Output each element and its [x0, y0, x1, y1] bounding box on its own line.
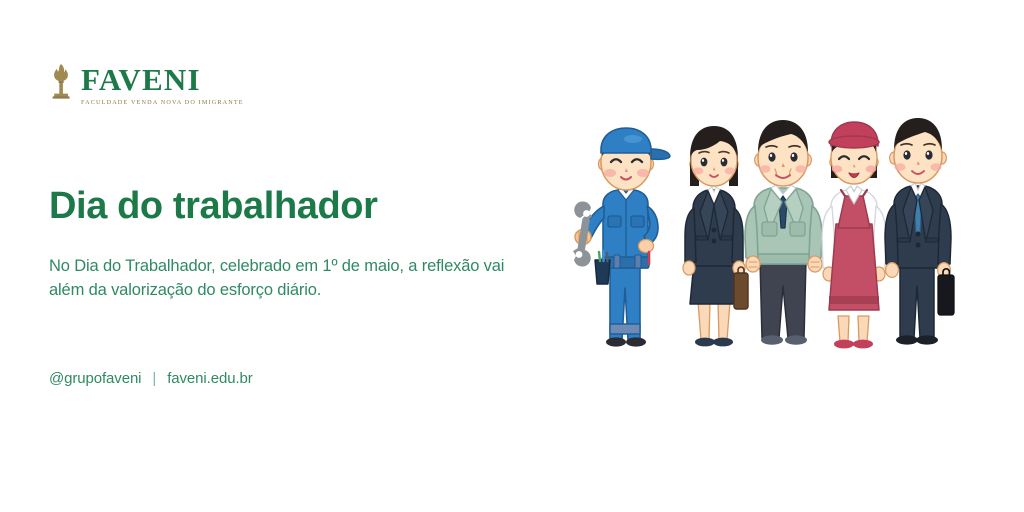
figure-businesswoman: [683, 126, 748, 346]
logo-name: FAVENI: [81, 64, 244, 95]
torch-icon: [48, 62, 74, 102]
brown-briefcase-icon: [734, 267, 748, 309]
figure-mechanic: [573, 128, 670, 347]
figure-senior-worker: [745, 120, 822, 345]
logo-wordmark: FAVENI FACULDADE VENDA NOVA DO IMIGRANTE: [81, 62, 244, 106]
promotional-banner: FAVENI FACULDADE VENDA NOVA DO IMIGRANTE…: [0, 0, 1024, 512]
footer-contact: @grupofaveni | faveni.edu.br: [49, 370, 253, 387]
footer-separator: |: [152, 370, 156, 387]
social-handle[interactable]: @grupofaveni: [49, 370, 141, 387]
group-of-workers-illustration: [548, 112, 1008, 370]
black-briefcase-icon: [938, 269, 954, 315]
website-link[interactable]: faveni.edu.br: [167, 370, 252, 387]
body-text: No Dia do Trabalhador, celebrado em 1º d…: [49, 255, 529, 303]
faveni-logo[interactable]: FAVENI FACULDADE VENDA NOVA DO IMIGRANTE: [48, 62, 244, 106]
figure-businessman: [885, 118, 954, 345]
page-title: Dia do trabalhador: [49, 186, 378, 228]
figure-apron-worker: [822, 122, 886, 348]
logo-tagline: FACULDADE VENDA NOVA DO IMIGRANTE: [81, 99, 244, 106]
